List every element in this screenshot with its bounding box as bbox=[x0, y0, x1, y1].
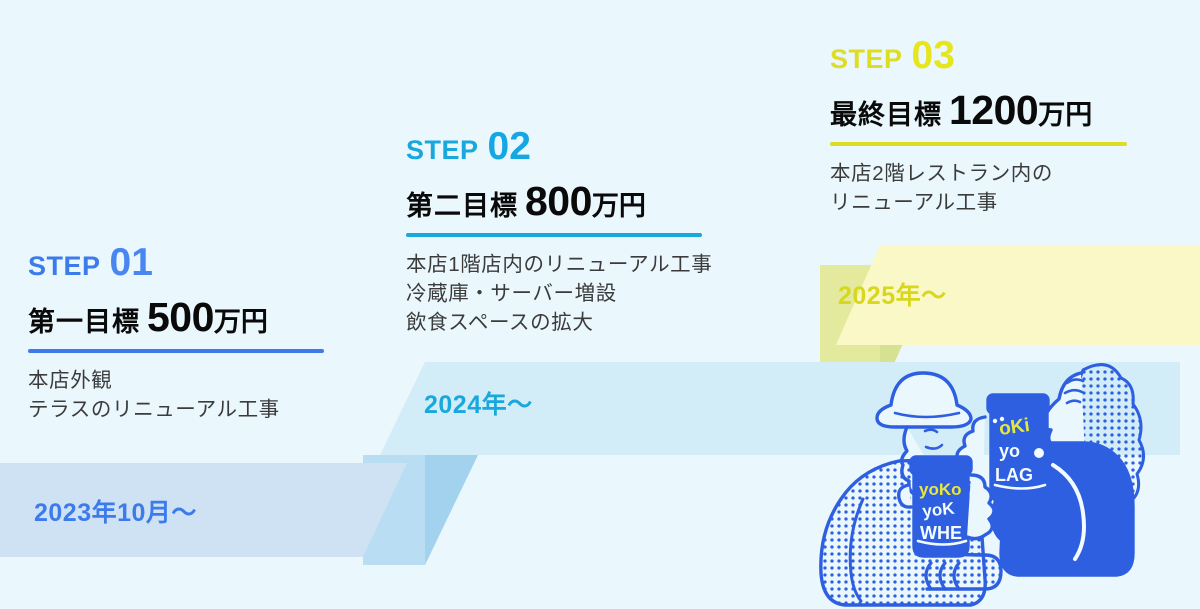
step-eyebrow-2: STEP02 bbox=[406, 127, 712, 166]
step-description-1: 本店外観 テラスのリニューアル工事 bbox=[28, 366, 324, 424]
step-eyebrow-number-2: 02 bbox=[488, 125, 531, 168]
step-goal-3: 最終目標1200万円 bbox=[830, 89, 1127, 132]
step-eyebrow-1: STEP01 bbox=[28, 243, 324, 282]
step-period-3: 2025年〜 bbox=[838, 276, 947, 312]
step-eyebrow-3: STEP03 bbox=[830, 36, 1127, 75]
step-goal-label-2: 第二目標 bbox=[406, 191, 518, 221]
can-right-text-line3: LAG bbox=[995, 465, 1033, 485]
left-person-smile bbox=[926, 445, 942, 449]
left-thumb bbox=[899, 485, 911, 507]
step-card-1: STEP01 第一目標500万円 本店外観 テラスのリニューアル工事 bbox=[28, 243, 324, 424]
step-eyebrow-word-3: STEP bbox=[830, 44, 903, 74]
step-goal-amount-2: 800 bbox=[525, 178, 592, 224]
step-goal-label-3: 最終目標 bbox=[830, 100, 942, 130]
infographic-stage: STEP01 第一目標500万円 本店外観 テラスのリニューアル工事 2023年… bbox=[0, 0, 1200, 609]
step-goal-1: 第一目標500万円 bbox=[28, 296, 324, 339]
step-eyebrow-word-2: STEP bbox=[406, 135, 479, 165]
can-right-text-line2: yo bbox=[999, 441, 1020, 461]
step-divider-1 bbox=[28, 349, 324, 353]
riser-step2-bevel bbox=[425, 455, 478, 565]
can-left-text-line2: yoK bbox=[921, 499, 956, 521]
left-person-hat bbox=[877, 373, 971, 427]
can-left-text-line3: WHE bbox=[920, 523, 962, 543]
step-eyebrow-word-1: STEP bbox=[28, 251, 101, 281]
step-period-1: 2023年10月〜 bbox=[34, 493, 197, 529]
step-divider-2 bbox=[406, 233, 702, 237]
step-eyebrow-number-3: 03 bbox=[912, 34, 955, 77]
step-divider-3 bbox=[830, 142, 1127, 146]
step-goal-amount-3: 1200 bbox=[949, 87, 1038, 133]
step-period-2: 2024年〜 bbox=[424, 385, 533, 421]
step-goal-unit-1: 万円 bbox=[214, 307, 268, 337]
can-left-text-line1: yoKo bbox=[919, 480, 962, 499]
step-description-2: 本店1階店内のリニューアル工事 冷蔵庫・サーバー増設 飲食スペースの拡大 bbox=[406, 250, 712, 337]
step-eyebrow-number-1: 01 bbox=[110, 241, 153, 284]
step-goal-unit-3: 万円 bbox=[1038, 100, 1092, 130]
step-goal-2: 第二目標800万円 bbox=[406, 180, 712, 223]
step-description-3: 本店2階レストラン内の リニューアル工事 bbox=[830, 159, 1127, 217]
step-goal-unit-2: 万円 bbox=[592, 191, 646, 221]
step-goal-label-1: 第一目標 bbox=[28, 307, 140, 337]
step-card-3: STEP03 最終目標1200万円 本店2階レストラン内の リニューアル工事 bbox=[830, 36, 1127, 217]
step-card-2: STEP02 第二目標800万円 本店1階店内のリニューアル工事 冷蔵庫・サーバ… bbox=[406, 127, 712, 337]
illustration-two-people-toasting: oKi yo LAG bbox=[795, 335, 1195, 609]
step-goal-amount-1: 500 bbox=[147, 294, 214, 340]
left-person-eye bbox=[925, 430, 937, 432]
